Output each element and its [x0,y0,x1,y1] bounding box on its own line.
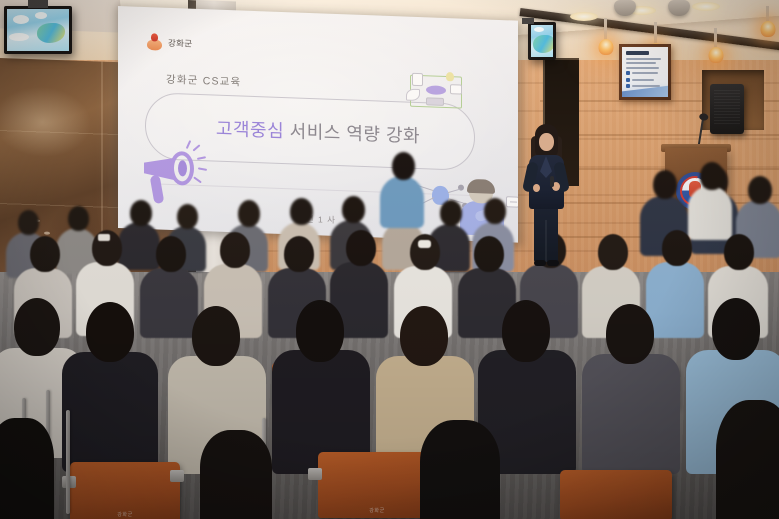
wall-monitor-right [528,22,556,60]
framed-wall-notice [619,44,671,100]
network-diagram-illustration [404,68,466,112]
light-bulb-icon [598,39,613,55]
handheld-microphone [550,176,554,187]
pendant-light [766,6,769,24]
notice-content [622,47,668,97]
recessed-ceiling-light [570,12,598,21]
auditorium-photo: 강화군 강화군 CS교육 고객중심 서비스 역량 강화 5년 1 사 [0,0,779,519]
pendant-light [714,28,717,50]
recessed-ceiling-light [692,2,720,11]
slide-eyebrow: 강화군 CS교육 [166,72,241,90]
auditorium-chair: 강화군 [318,452,436,518]
presenter-trousers [534,206,558,262]
pa-speaker [710,84,744,134]
slide-title-rest: 서비스 역량 강화 [290,121,420,146]
slide-logo-text: 강화군 [168,36,192,49]
light-bulb-icon [708,47,723,63]
wall-monitor-left [4,6,72,54]
pendant-light [654,22,657,46]
ganghwa-gun-mascot-icon [146,33,163,51]
chat-bubble-icon [506,196,518,207]
presenter-face [539,133,554,151]
monitor-screen [531,25,553,57]
pendant-light [604,18,607,42]
monitor-mount [522,18,534,24]
auditorium-chair: 강화군 [70,462,180,519]
light-bulb-icon [760,21,775,37]
monitor-mount [28,0,48,8]
slide-logo: 강화군 [146,33,192,52]
auditorium-chair [560,470,672,519]
megaphone-illustration [140,139,214,208]
monitor-screen [7,9,69,51]
slide-title-accent: 고객중심 [216,119,284,142]
